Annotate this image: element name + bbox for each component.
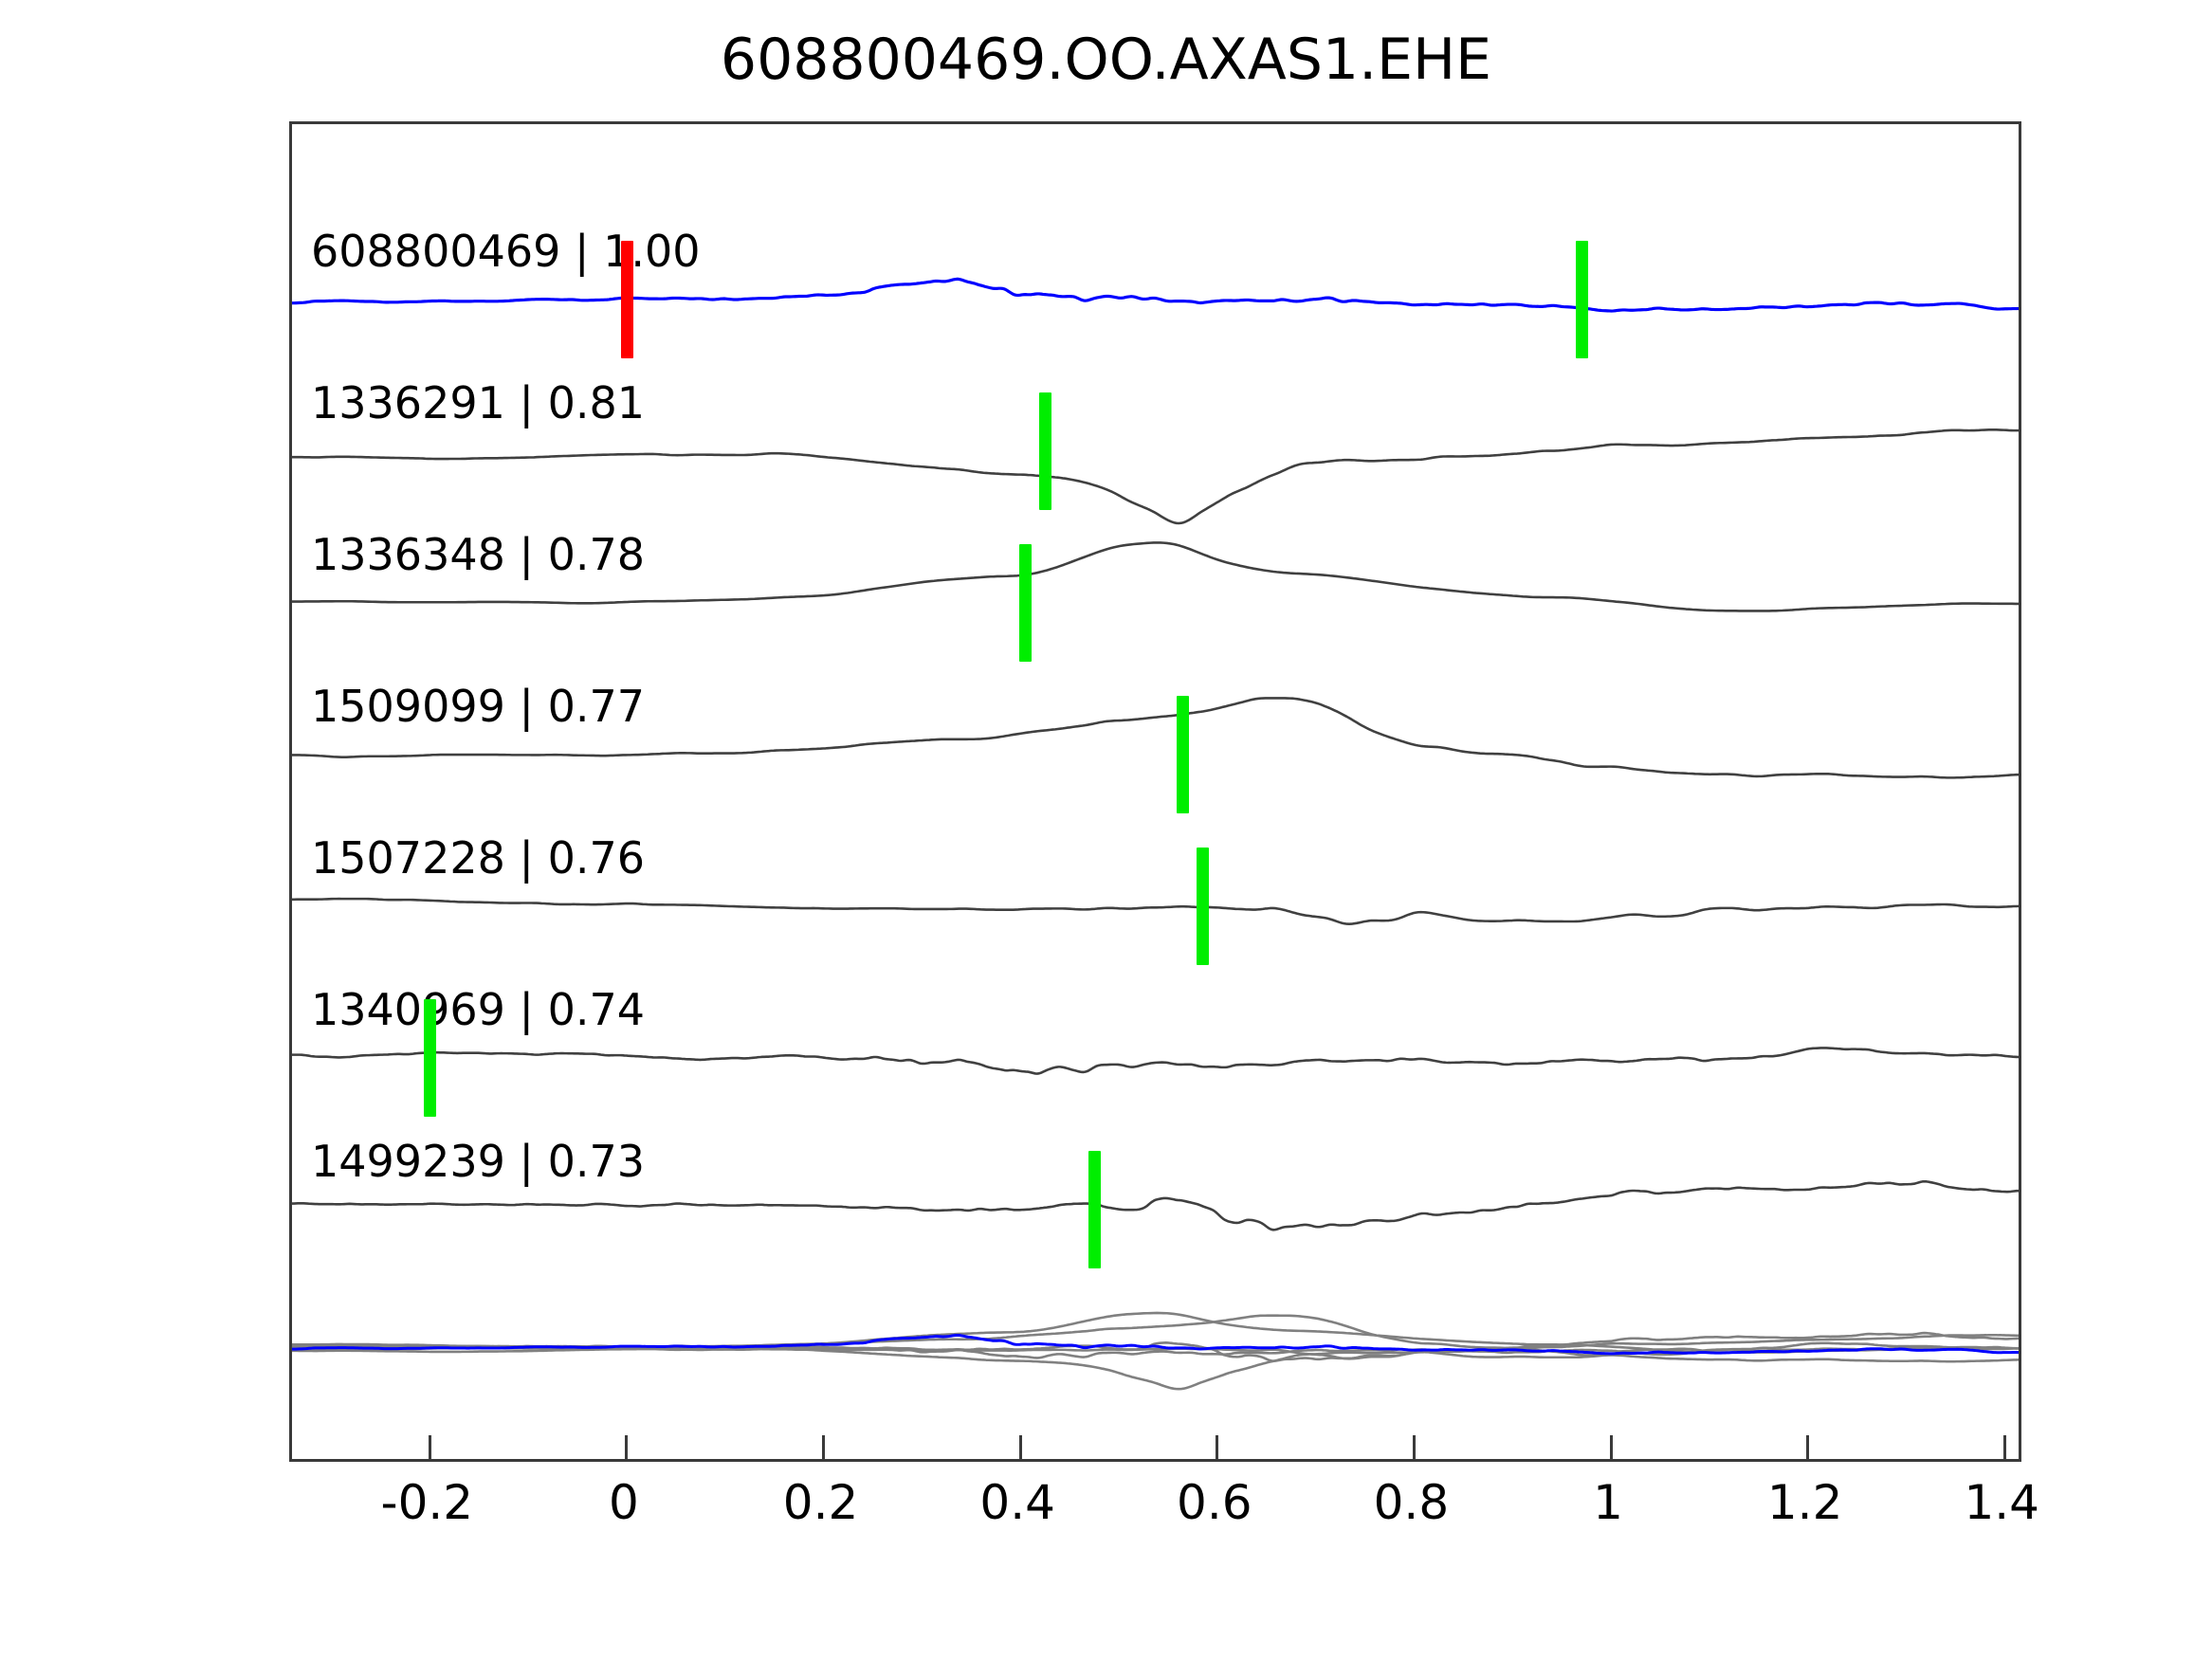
x-tick-label-1: 0 bbox=[609, 1475, 639, 1530]
pick-marker-1499239 bbox=[1088, 1151, 1101, 1268]
x-tick-1 bbox=[625, 1435, 628, 1459]
x-tick-label-7: 1.2 bbox=[1767, 1475, 1843, 1530]
x-tick-2 bbox=[822, 1435, 825, 1459]
pick-marker-608800469-detection bbox=[1576, 241, 1588, 358]
pick-marker-1340969 bbox=[424, 999, 436, 1117]
trace-label-1336291: 1336291 | 0.81 bbox=[311, 377, 645, 428]
x-tick-6 bbox=[1610, 1435, 1613, 1459]
x-tick-5 bbox=[1413, 1435, 1416, 1459]
overlay-panel bbox=[292, 1313, 2019, 1389]
x-tick-label-2: 0.2 bbox=[783, 1475, 859, 1530]
waveform-trace-1499239 bbox=[292, 1181, 2019, 1230]
trace-label-1499239: 1499239 | 0.73 bbox=[311, 1136, 645, 1187]
waveform-canvas bbox=[292, 124, 2019, 1459]
pick-marker-1507228 bbox=[1197, 848, 1209, 965]
x-tick-label-4: 0.6 bbox=[1177, 1475, 1252, 1530]
pick-marker-1336291 bbox=[1039, 392, 1051, 510]
plot-axes: 608800469 | 1.001336291 | 0.811336348 | … bbox=[289, 121, 2021, 1462]
x-tick-8 bbox=[2003, 1435, 2006, 1459]
page-title: 608800469.OO.AXAS1.EHE bbox=[0, 27, 2212, 93]
pick-marker-1509099 bbox=[1177, 696, 1189, 813]
waveform-trace-1336291 bbox=[292, 429, 2019, 523]
waveform-trace-608800469 bbox=[292, 279, 2019, 311]
trace-label-1340969: 1340969 | 0.74 bbox=[311, 984, 645, 1035]
x-tick-4 bbox=[1216, 1435, 1218, 1459]
axes-inner: 608800469 | 1.001336291 | 0.811336348 | … bbox=[292, 124, 2019, 1459]
pick-marker-1336348 bbox=[1019, 544, 1032, 662]
waveform-trace-1507228 bbox=[292, 899, 2019, 924]
x-tick-label-5: 0.8 bbox=[1374, 1475, 1450, 1530]
pick-marker-608800469 bbox=[621, 241, 633, 358]
x-tick-label-3: 0.4 bbox=[979, 1475, 1055, 1530]
trace-label-1509099: 1509099 | 0.77 bbox=[311, 681, 645, 732]
x-tick-0 bbox=[429, 1435, 431, 1459]
x-tick-label-0: -0.2 bbox=[381, 1475, 474, 1530]
waveform-trace-1340969 bbox=[292, 1048, 2019, 1073]
x-tick-3 bbox=[1019, 1435, 1022, 1459]
trace-label-1336348: 1336348 | 0.78 bbox=[311, 529, 645, 580]
trace-label-608800469: 608800469 | 1.00 bbox=[311, 226, 701, 277]
trace-label-1507228: 1507228 | 0.76 bbox=[311, 832, 645, 884]
figure-root: 608800469.OO.AXAS1.EHE 608800469 | 1.001… bbox=[0, 0, 2212, 1659]
x-tick-label-6: 1 bbox=[1593, 1475, 1623, 1530]
x-tick-7 bbox=[1806, 1435, 1809, 1459]
x-tick-label-8: 1.4 bbox=[1964, 1475, 2039, 1530]
